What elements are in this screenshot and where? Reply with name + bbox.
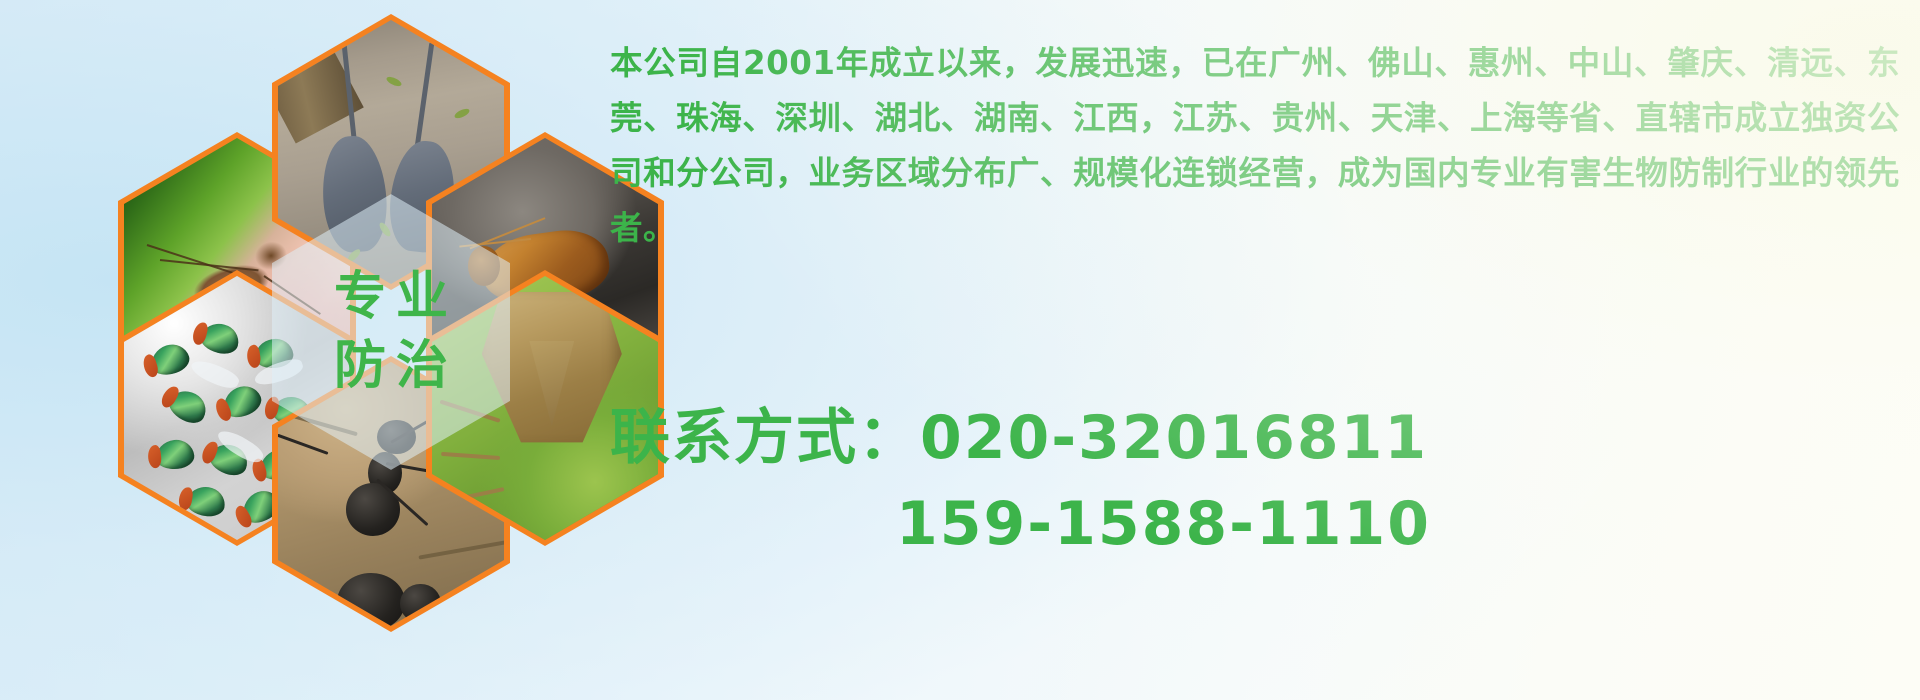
contact-label: 联系方式： <box>610 403 920 473</box>
contact-block: 联系方式：020-32016811 159-1588-1110 <box>610 395 1910 567</box>
contact-landline-line: 联系方式：020-32016811 <box>610 395 1910 481</box>
leaf-debris-icon <box>386 75 403 89</box>
rat-tail-icon <box>414 42 434 152</box>
fly-wing-icon <box>188 356 241 393</box>
fly-icon <box>198 319 242 356</box>
twig-icon <box>419 538 504 559</box>
contact-mobile-number[interactable]: 159-1588-1110 <box>896 489 1431 559</box>
fly-icon <box>154 438 195 471</box>
contact-mobile-line: 159-1588-1110 <box>610 481 1910 567</box>
ant-second-body-icon <box>337 573 405 626</box>
company-intro-paragraph: 本公司自2001年成立以来，发展迅速，已在广州、佛山、惠州、中山、肇庆、清远、东… <box>610 36 1900 256</box>
company-intro-block: 本公司自2001年成立以来，发展迅速，已在广州、佛山、惠州、中山、肇庆、清远、东… <box>610 36 1900 256</box>
fly-icon <box>185 485 227 519</box>
stink-bug-leg-icon <box>441 451 500 459</box>
pest-control-banner: 专业 防治 本公司自2001年成立以来，发展迅速，已在广州、佛山、惠州、中山、肇… <box>0 0 1920 700</box>
fly-icon <box>165 385 213 429</box>
leaf-debris-icon <box>454 107 471 119</box>
slogan-line-2: 防治 <box>324 332 458 401</box>
ant-leg-icon <box>278 433 328 454</box>
fly-icon <box>148 339 193 378</box>
ant-second-head-icon <box>400 584 441 624</box>
hexagon-photo-collage: 专业 防治 <box>96 0 596 580</box>
contact-landline-number[interactable]: 020-32016811 <box>920 403 1428 473</box>
slogan-line-1: 专业 <box>324 263 458 332</box>
